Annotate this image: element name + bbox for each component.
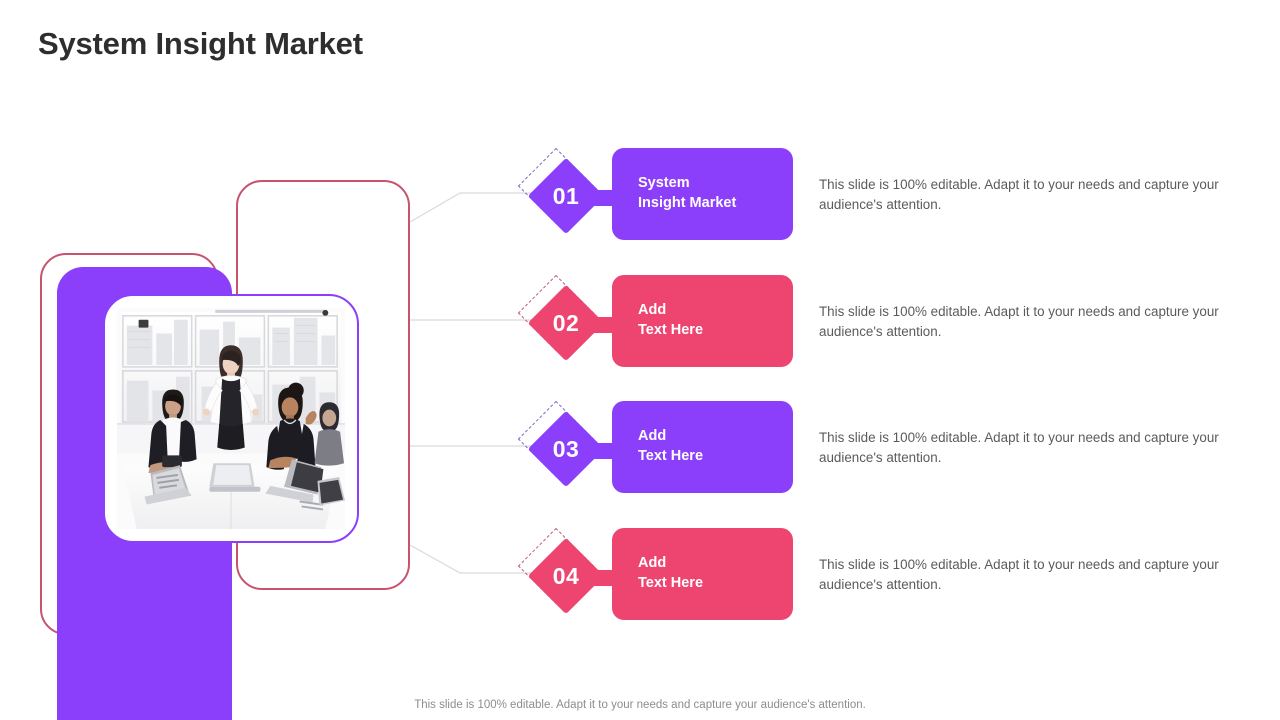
page-title: System Insight Market: [38, 26, 363, 62]
connector-line-1: [410, 193, 538, 222]
step-label-text: Add Text Here: [638, 427, 703, 466]
meeting-photo-illustration: [117, 308, 345, 529]
step-body-text: This slide is 100% editable. Adapt it to…: [819, 302, 1231, 342]
step-body-text: This slide is 100% editable. Adapt it to…: [819, 175, 1231, 215]
step-label-text: Add Text Here: [638, 301, 703, 340]
list-item[interactable]: 01 System Insight Market This slide is 1…: [527, 148, 1227, 240]
list-item[interactable]: 03 Add Text Here This slide is 100% edit…: [527, 401, 1227, 493]
list-item[interactable]: 02 Add Text Here This slide is 100% edit…: [527, 275, 1227, 367]
step-label-text: Add Text Here: [638, 554, 703, 593]
step-label-text: System Insight Market: [638, 174, 736, 213]
photo-frame[interactable]: [103, 294, 359, 543]
step-body-text: This slide is 100% editable. Adapt it to…: [819, 428, 1231, 468]
step-body-text: This slide is 100% editable. Adapt it to…: [819, 555, 1231, 595]
step-label-pill[interactable]: Add Text Here: [612, 275, 793, 367]
step-label-pill[interactable]: System Insight Market: [612, 148, 793, 240]
meeting-photo: [117, 308, 345, 529]
footer-note: This slide is 100% editable. Adapt it to…: [0, 699, 1280, 711]
step-label-pill[interactable]: Add Text Here: [612, 401, 793, 493]
slide-canvas: System Insight Market: [0, 0, 1280, 720]
list-item[interactable]: 04 Add Text Here This slide is 100% edit…: [527, 528, 1227, 620]
connector-line-4: [410, 545, 538, 573]
step-label-pill[interactable]: Add Text Here: [612, 528, 793, 620]
